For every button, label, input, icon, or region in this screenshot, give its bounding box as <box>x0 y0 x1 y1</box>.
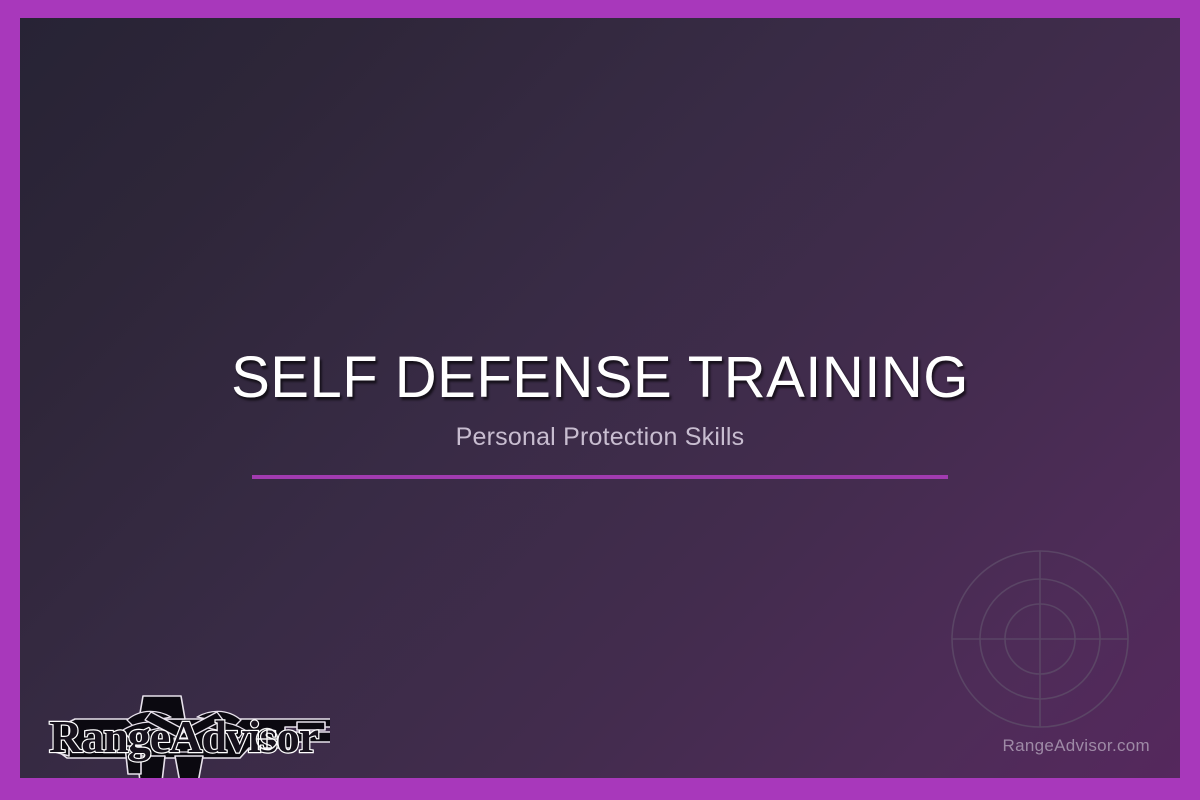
page-subtitle: Personal Protection Skills <box>20 423 1180 452</box>
scope-reticle-icon <box>257 729 278 750</box>
page-title: SELF DEFENSE TRAINING <box>20 348 1180 409</box>
site-watermark: RangeAdvisor.com <box>1003 736 1150 756</box>
presentation-slide: SELF DEFENSE TRAINING Personal Protectio… <box>0 0 1200 800</box>
title-divider <box>252 475 948 479</box>
rangeadvisor-logo: RangeAdvisor <box>35 686 330 790</box>
logo-wordmark: RangeAdvisor <box>49 711 319 762</box>
title-block: SELF DEFENSE TRAINING Personal Protectio… <box>20 348 1180 479</box>
